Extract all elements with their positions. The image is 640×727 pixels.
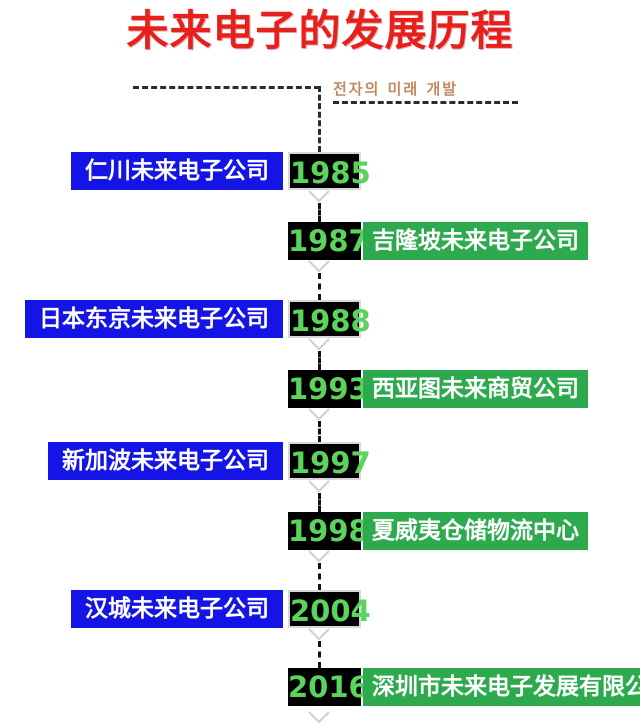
timeline-connector <box>0 190 640 222</box>
timeline-diagram: 未来电子的发展历程 전자의 미래 개발 1985仁川未来电子公司1987吉隆坡未… <box>0 0 640 727</box>
chevron-down-icon <box>308 628 330 640</box>
timeline-row: 1993西亚图未来商贸公司 <box>0 370 640 408</box>
timeline-connector <box>0 480 640 512</box>
milestone-label-left[interactable]: 仁川未来电子公司 <box>71 152 283 190</box>
timeline-end-chevron-icon <box>308 708 330 720</box>
timeline-row: 1987吉隆坡未来电子公司 <box>0 222 640 260</box>
chevron-down-icon <box>308 260 330 272</box>
connector-dashed-line <box>318 563 321 590</box>
connector-dashed-line <box>318 493 321 512</box>
header-rule-right <box>333 101 518 104</box>
milestone-label-right[interactable]: 夏威夷仓储物流中心 <box>363 512 588 550</box>
timeline-row: 1988日本东京未来电子公司 <box>0 300 640 338</box>
timeline-connector <box>0 628 640 668</box>
year-badge[interactable]: 2004 <box>288 590 361 628</box>
milestone-label-left[interactable]: 新加波未来电子公司 <box>48 442 283 480</box>
year-badge[interactable]: 2016 <box>288 668 361 706</box>
timeline-row: 2004汉城未来电子公司 <box>0 590 640 628</box>
year-badge[interactable]: 1988 <box>288 300 361 338</box>
chevron-down-icon <box>308 338 330 350</box>
year-badge[interactable]: 1997 <box>288 442 361 480</box>
chevron-down-icon <box>308 190 330 202</box>
year-badge[interactable]: 1987 <box>288 222 361 260</box>
header-rule-left <box>133 86 320 89</box>
page-title: 未来电子的发展历程 <box>0 10 640 52</box>
timeline-row: 1985仁川未来电子公司 <box>0 152 640 190</box>
milestone-label-right[interactable]: 西亚图未来商贸公司 <box>363 370 588 408</box>
milestone-label-left[interactable]: 汉城未来电子公司 <box>71 590 283 628</box>
year-badge[interactable]: 1993 <box>288 370 361 408</box>
timeline-connector <box>0 260 640 300</box>
timeline-row: 2016深圳市未来电子发展有限公司 <box>0 668 640 706</box>
timeline-connector <box>0 338 640 370</box>
timeline-connector <box>0 550 640 590</box>
chevron-down-icon <box>308 408 330 420</box>
timeline-row: 1998夏威夷仓储物流中心 <box>0 512 640 550</box>
header-rule-vertical <box>318 86 321 152</box>
connector-dashed-line <box>318 421 321 442</box>
timeline-connector <box>0 408 640 442</box>
milestone-label-right[interactable]: 深圳市未来电子发展有限公司 <box>363 668 640 706</box>
connector-dashed-line <box>318 203 321 222</box>
connector-dashed-line <box>318 641 321 668</box>
connector-dashed-line <box>318 273 321 300</box>
chevron-down-icon <box>308 550 330 562</box>
milestone-label-left[interactable]: 日本东京未来电子公司 <box>25 300 283 338</box>
milestone-label-right[interactable]: 吉隆坡未来电子公司 <box>363 222 588 260</box>
year-badge[interactable]: 1998 <box>288 512 361 550</box>
chevron-down-icon <box>308 480 330 492</box>
timeline-row: 1997新加波未来电子公司 <box>0 442 640 480</box>
year-badge[interactable]: 1985 <box>288 152 361 190</box>
page-subtitle: 전자의 미래 개발 <box>333 78 458 99</box>
connector-dashed-line <box>318 351 321 370</box>
